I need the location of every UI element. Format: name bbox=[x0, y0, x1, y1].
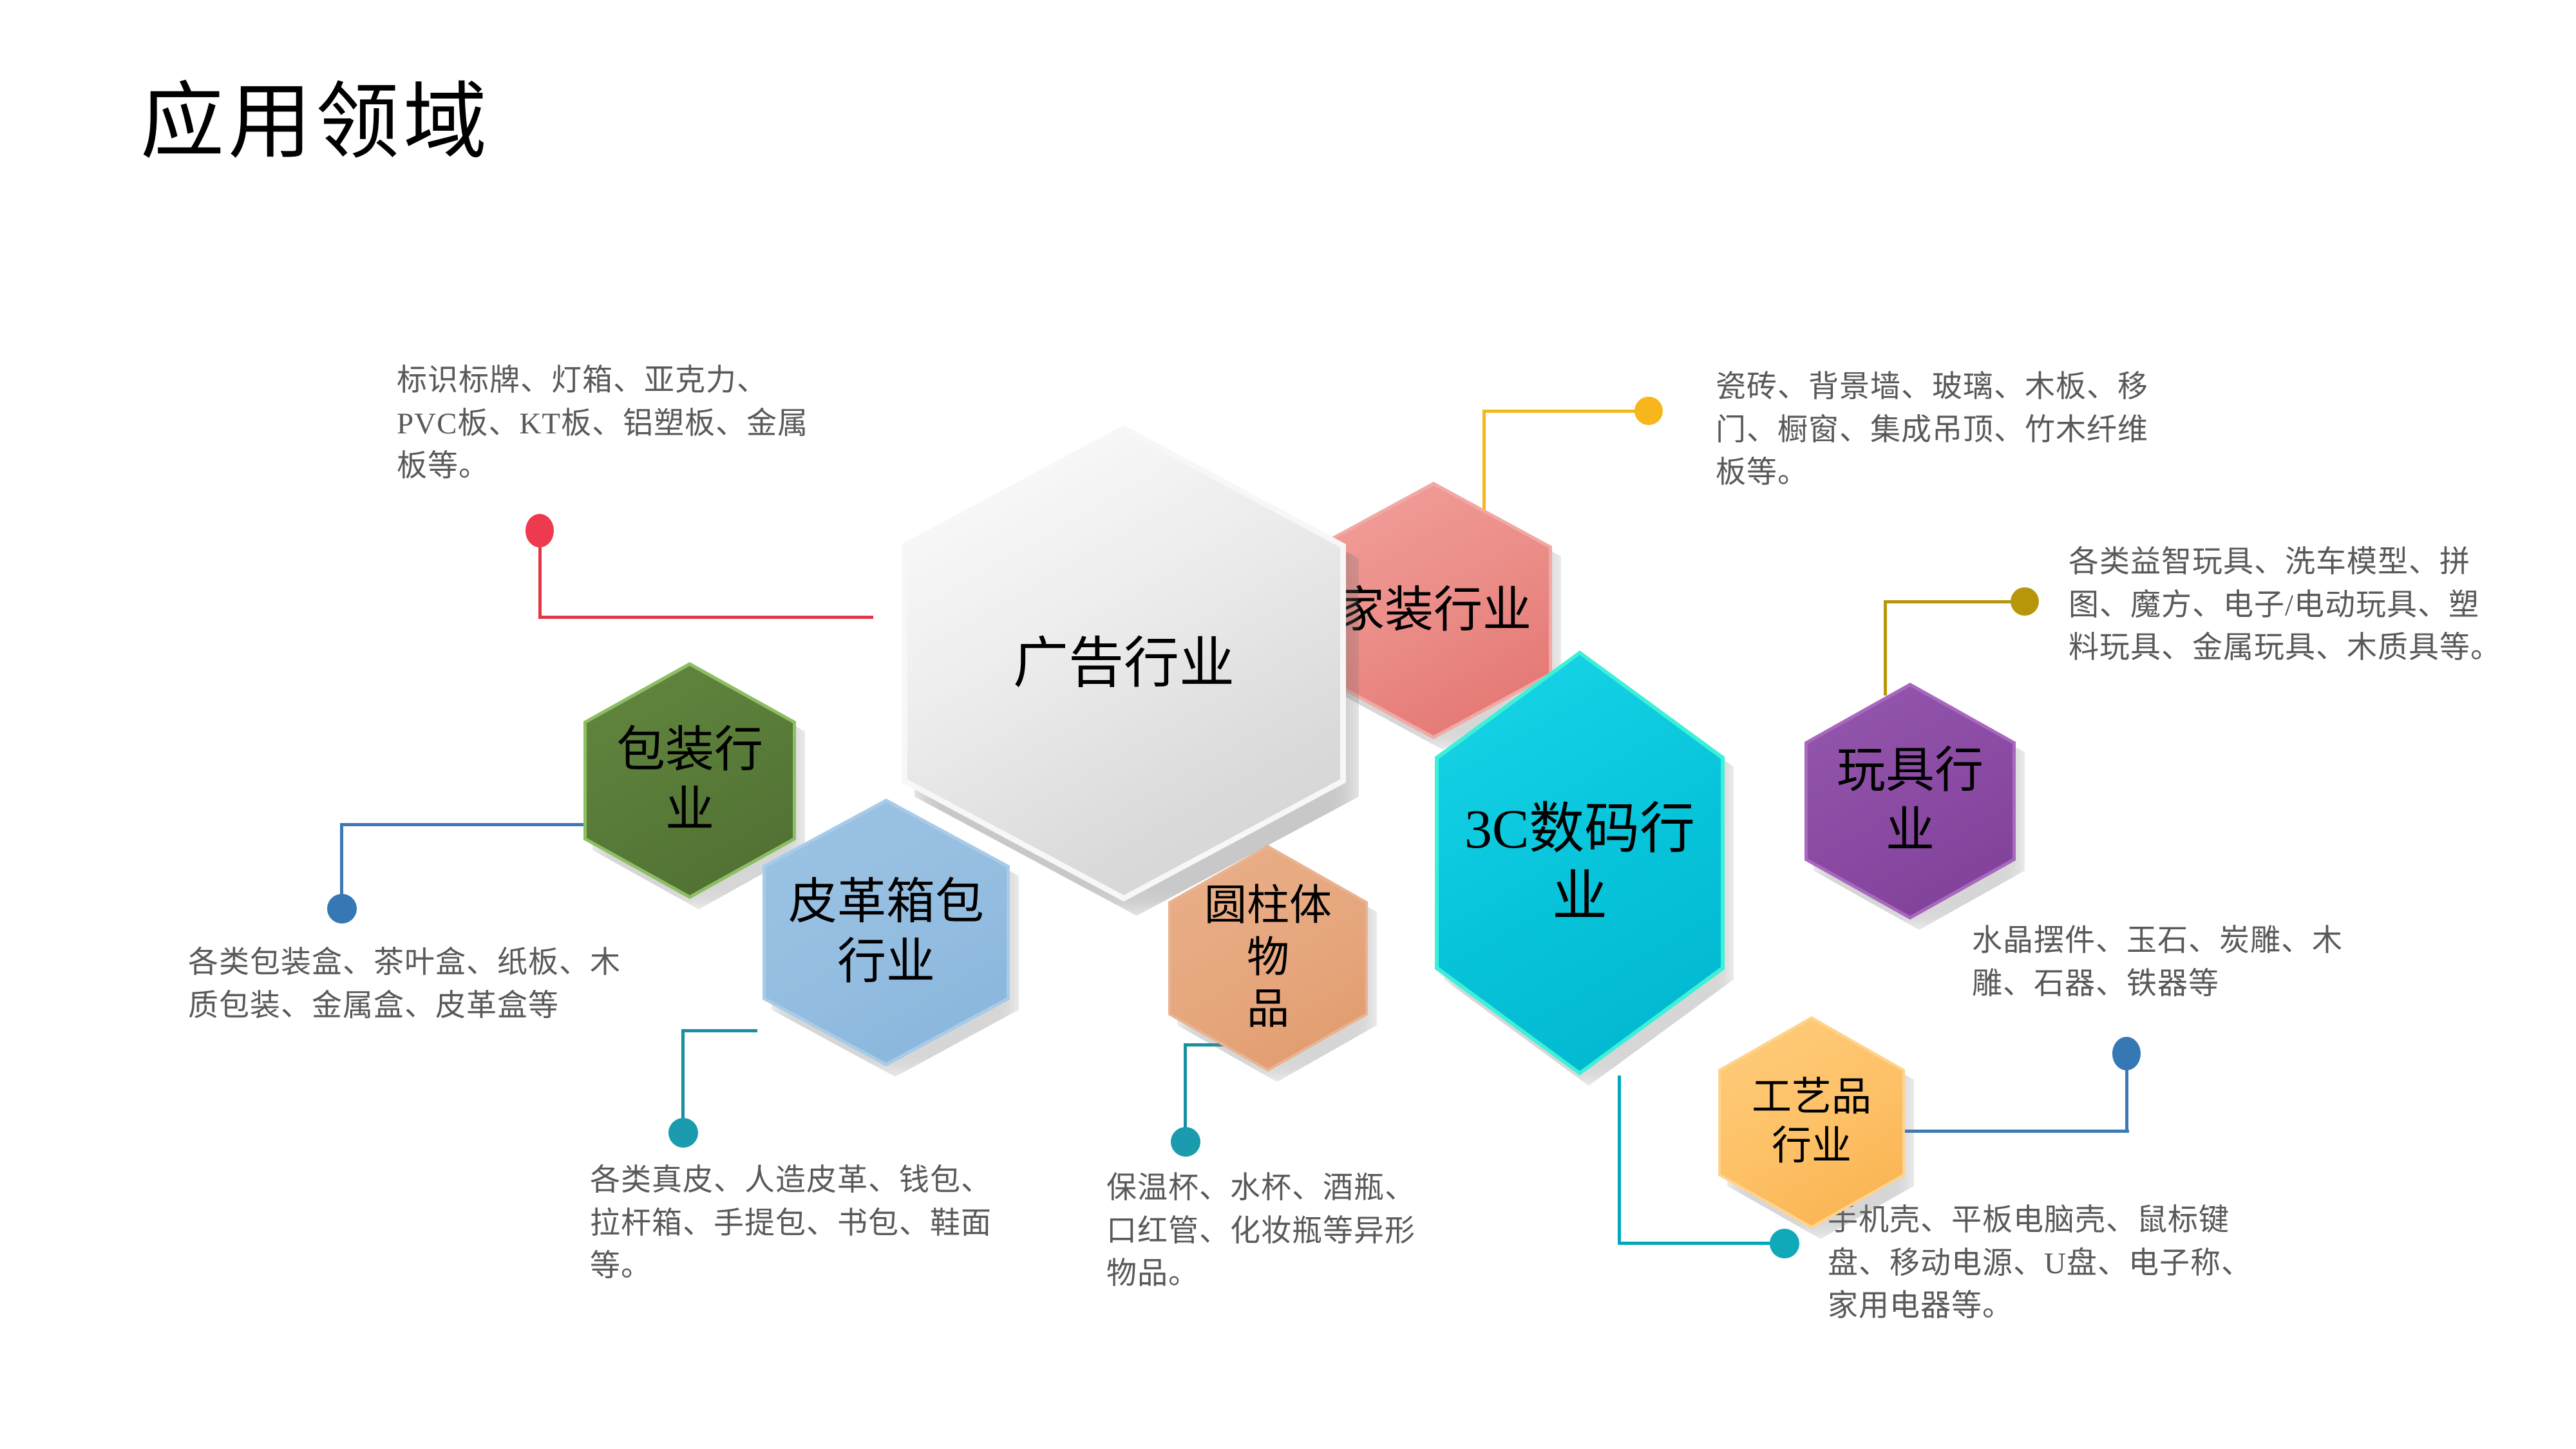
connector-dot-3c-digital bbox=[1770, 1229, 1799, 1258]
hexagon-label-3c-digital: 3C数码行业 bbox=[1435, 795, 1725, 931]
connector-dot-advertising bbox=[526, 514, 554, 547]
description-toys: 各类益智玩具、洗车模型、拼图、魔方、电子/电动玩具、塑料玩具、金属玩具、木质具等… bbox=[2069, 541, 2506, 670]
hexagon-label-toys: 玩具行业 bbox=[1804, 741, 2016, 860]
hexagon-label-cylindrical-objects: 圆柱体物 品 bbox=[1168, 880, 1368, 1036]
description-packaging: 各类包装盒、茶叶盒、纸板、木质包装、金属盒、皮革盒等 bbox=[188, 942, 639, 1027]
description-advertising: 标识标牌、灯箱、亚克力、PVC板、KT板、铝塑板、金属板等。 bbox=[397, 359, 822, 488]
hexagon-label-handicrafts: 工艺品 行业 bbox=[1737, 1074, 1886, 1171]
hexagon-toys[interactable]: 玩具行业 bbox=[1804, 683, 2016, 920]
connector-dot-cylindrical bbox=[1171, 1127, 1200, 1157]
description-leather: 各类真皮、人造皮革、钱包、拉杆箱、手提包、书包、鞋面等。 bbox=[590, 1159, 1015, 1288]
hexagon-3c-digital[interactable]: 3C数码行业 bbox=[1435, 650, 1725, 1075]
hexagon-label-advertising: 广告行业 bbox=[978, 630, 1270, 697]
connector-dot-leather bbox=[668, 1118, 698, 1148]
connector-dot-handicrafts bbox=[2112, 1037, 2141, 1070]
hexagon-handicrafts[interactable]: 工艺品 行业 bbox=[1718, 1016, 1905, 1229]
slide-canvas: 应用领域 bbox=[0, 0, 2576, 1449]
connector-dot-home-decoration bbox=[1634, 397, 1663, 425]
description-handicrafts: 水晶摆件、玉石、炭雕、木雕、石器、铁器等 bbox=[1972, 920, 2397, 1005]
description-home-decoration: 瓷砖、背景墙、玻璃、木板、移门、橱窗、集成吊顶、竹木纤维板等。 bbox=[1716, 366, 2154, 495]
connector-dot-toys bbox=[2011, 587, 2039, 616]
hexagon-advertising[interactable]: 广告行业 bbox=[902, 425, 1346, 902]
page-title: 应用领域 bbox=[140, 77, 491, 169]
connector-dot-packaging bbox=[327, 894, 357, 923]
description-cylindrical: 保温杯、水杯、酒瓶、口红管、化妆瓶等异形物品。 bbox=[1106, 1167, 1441, 1296]
